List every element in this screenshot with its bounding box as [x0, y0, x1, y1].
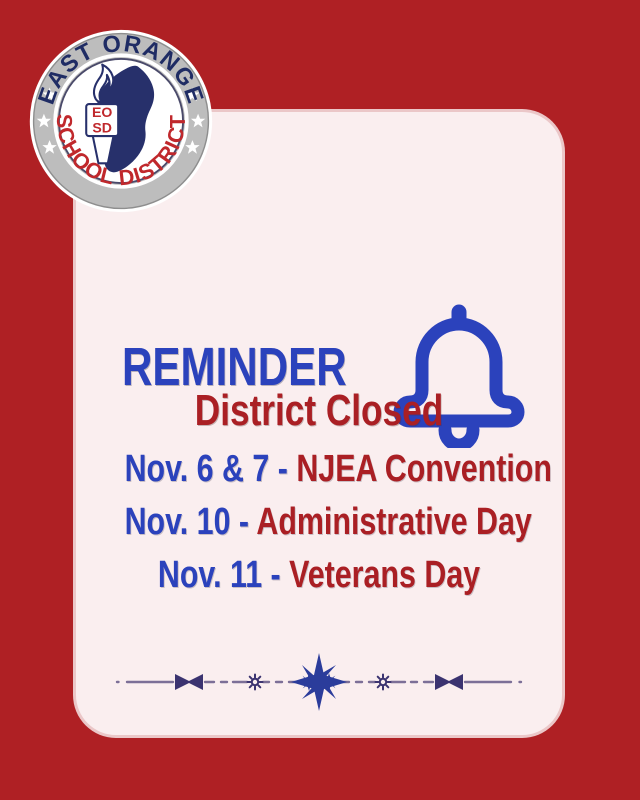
closure-event: Veterans Day: [289, 554, 480, 596]
district-logo: EO SD EAST ORANGE SCHOOL DISTRICT: [27, 27, 215, 215]
closure-date: Nov. 11 -: [158, 554, 289, 596]
closure-line: Nov. 11 - Veterans Day: [125, 550, 514, 600]
ornamental-divider: [111, 652, 527, 712]
closure-line: Nov. 6 & 7 - NJEA Convention: [125, 444, 514, 494]
logo-initials-bottom: SD: [92, 119, 112, 135]
triangle-left: [187, 674, 203, 690]
triangle-left: [447, 674, 463, 690]
closure-heading: District Closed: [125, 386, 514, 436]
eight-point-star-icon: [291, 653, 347, 711]
reminder-flyer: REMINDER District Closed Nov. 6 & 7 -: [0, 0, 640, 800]
closure-announcement: District Closed Nov. 6 & 7 - NJEA Conven…: [76, 386, 562, 603]
closure-date: Nov. 6 & 7 -: [125, 448, 297, 490]
closure-event: NJEA Convention: [296, 448, 552, 490]
closure-event: Administrative Day: [256, 501, 531, 543]
closure-date: Nov. 10 -: [125, 501, 257, 543]
logo-initials-top: EO: [92, 104, 112, 120]
closure-line: Nov. 10 - Administrative Day: [125, 497, 514, 547]
